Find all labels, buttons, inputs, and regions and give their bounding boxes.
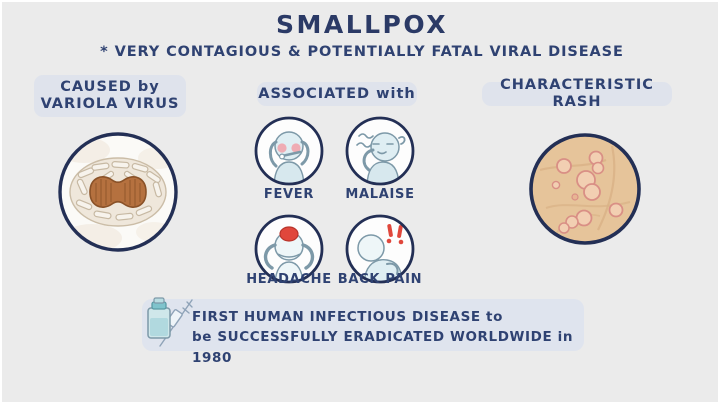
eradication-banner-line2: be SUCCESSFULLY ERADICATED WORLDWIDE in … (192, 327, 582, 368)
vaccine-vial-syringe-icon (136, 294, 198, 354)
heading-caused-by: CAUSED by VARIOLA VIRUS (34, 75, 186, 117)
symptom-label-malaise: MALAISE (325, 187, 435, 202)
eradication-banner-line1: FIRST HUMAN INFECTIOUS DISEASE to (192, 307, 582, 327)
symptom-label-back-pain: BACK PAIN (325, 272, 435, 287)
heading-caused-by-line1: CAUSED by (60, 79, 159, 96)
heading-characteristic-rash: CHARACTERISTIC RASH (482, 82, 672, 106)
heading-caused-by-line2: VARIOLA VIRUS (41, 96, 180, 113)
eradication-banner-text: FIRST HUMAN INFECTIOUS DISEASE to be SUC… (192, 307, 582, 368)
pustular-rash-icon (526, 130, 644, 248)
heading-associated-with: ASSOCIATED with (257, 82, 417, 106)
infographic-slide: SMALLPOX * VERY CONTAGIOUS & POTENTIALLY… (0, 0, 720, 404)
variola-virus-icon (54, 128, 182, 256)
page-title: SMALLPOX (2, 10, 720, 39)
page-subtitle: * VERY CONTAGIOUS & POTENTIALLY FATAL VI… (2, 44, 720, 60)
fever-icon (252, 114, 326, 188)
malaise-icon (343, 114, 417, 188)
